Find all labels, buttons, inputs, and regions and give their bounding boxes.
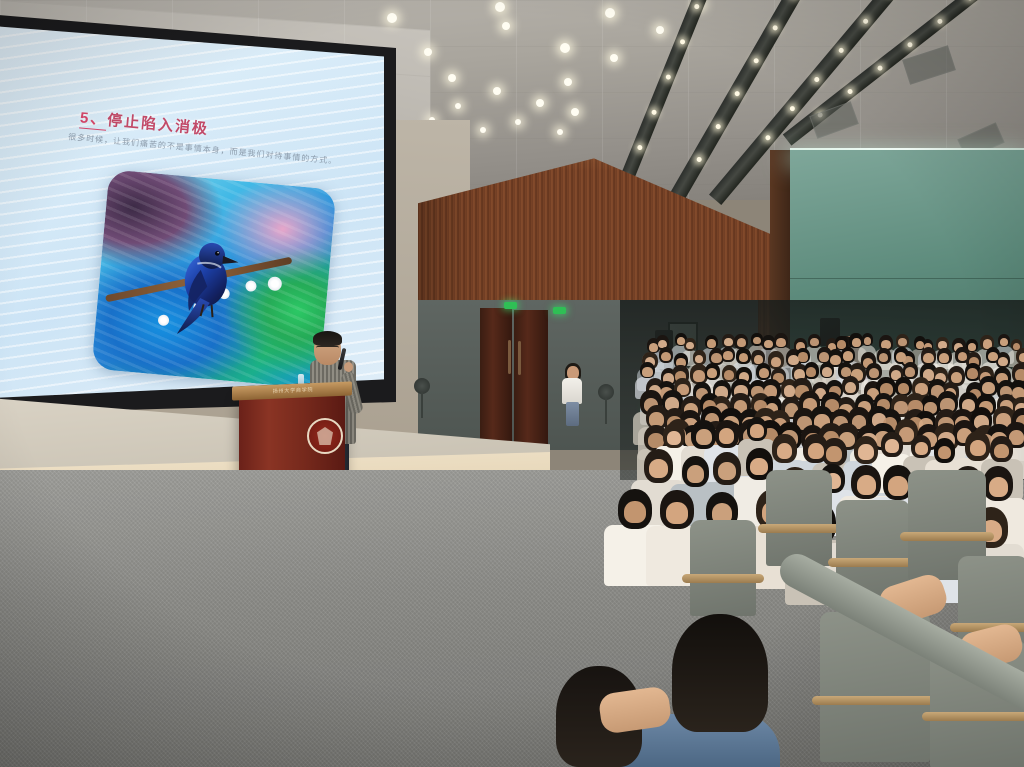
audience-face [661, 352, 671, 362]
audience-face [806, 367, 816, 377]
beam-spotlight-icon [876, 64, 883, 71]
audience-face [998, 357, 1008, 367]
audience-face [776, 338, 785, 347]
audience-face [649, 459, 668, 478]
audience-face [879, 353, 889, 362]
auditorium-photo: 5、停止陷入消极 很多时候，让我们痛苦的不是事情本身，而是我们对待事情的方式。 [0, 0, 1024, 767]
exit-sign-icon [504, 302, 517, 309]
pedestal-fan [598, 384, 614, 424]
beam-spotlight-icon [752, 57, 759, 64]
audience-face [739, 353, 749, 362]
audience-face [852, 338, 861, 347]
audience-face [719, 428, 735, 444]
downlight-icon [571, 108, 579, 116]
slide-title-text: 停止陷入消极 [106, 112, 209, 138]
audience-face [724, 370, 734, 380]
audience-face [808, 443, 824, 459]
audience-face [686, 342, 694, 349]
foreground-attendee-head [672, 614, 768, 732]
audience-face [888, 476, 907, 495]
beam-spotlight-icon [764, 134, 771, 141]
audience-face [822, 367, 832, 377]
downlight-icon [387, 13, 397, 23]
teal-wall-seam [790, 278, 1024, 279]
pedestal-fan [414, 378, 430, 418]
audience-face [898, 338, 907, 346]
beam-spotlight-icon [665, 74, 672, 81]
audience-face [905, 367, 915, 377]
audience-face [869, 368, 880, 378]
beam-spotlight-icon [714, 123, 721, 130]
audience-face [753, 337, 761, 344]
audience-face [810, 338, 819, 346]
audience-face [845, 382, 856, 393]
downlight-icon [605, 8, 615, 18]
beam-spotlight-icon [862, 17, 869, 24]
fan-pole [605, 398, 607, 424]
bird-illustration [161, 233, 254, 344]
audience-face [707, 339, 716, 348]
beam-spotlight-icon [650, 109, 657, 116]
beam-spotlight-icon [936, 17, 943, 24]
audience-face [1015, 369, 1024, 381]
slide-bird-photo [91, 169, 336, 389]
audience-face [771, 357, 782, 367]
downlight-icon [424, 48, 432, 56]
audience-face [798, 352, 808, 361]
downlight-icon [564, 78, 572, 86]
downlight-icon [515, 119, 521, 125]
audience-face [696, 429, 712, 445]
beam-spotlight-icon [966, 0, 973, 1]
seat-armrest [900, 532, 994, 541]
downlight-icon [502, 22, 510, 30]
downlight-icon [536, 99, 544, 107]
audience-face [777, 443, 793, 459]
downlight-icon [448, 74, 456, 82]
university-emblem [307, 418, 343, 454]
audience-face [938, 446, 952, 460]
beam-spotlight-icon [693, 3, 700, 10]
downlight-icon [493, 87, 501, 95]
exit-sign-icon [553, 307, 566, 314]
beam-spotlight-icon [813, 76, 820, 83]
downlight-icon [495, 2, 505, 12]
beam-spotlight-icon [771, 24, 778, 31]
audience-face [885, 439, 899, 453]
audience-face [784, 385, 796, 397]
audience-face [759, 368, 769, 378]
audience-face [718, 462, 736, 480]
speaker-hair [313, 331, 342, 346]
downlight-icon [656, 26, 664, 34]
door-handle[interactable] [518, 341, 521, 375]
audience-face [967, 368, 978, 379]
audience-face [666, 502, 688, 524]
audience-face [864, 337, 872, 344]
audience-face [819, 352, 829, 362]
audience-face [723, 351, 732, 360]
audience-face [898, 383, 909, 394]
attendee-by-wall-legs [566, 402, 579, 426]
audience-face [711, 353, 722, 363]
audience-face [764, 340, 773, 348]
audience-face [642, 367, 652, 377]
door-handle[interactable] [508, 340, 511, 374]
seat-armrest [758, 524, 840, 533]
emblem-inner-mark [317, 427, 333, 445]
speaker-hand [344, 362, 353, 372]
audience-face [750, 458, 767, 475]
audience-face [994, 444, 1008, 458]
audience-face [1000, 338, 1008, 346]
wood-door-right [514, 310, 548, 450]
auditorium-seat[interactable] [690, 520, 756, 616]
audience-face [915, 442, 928, 455]
audience-face [923, 353, 934, 363]
beam-spotlight-icon [733, 90, 740, 97]
audience-face [750, 424, 763, 437]
attendee-by-wall-torso [562, 378, 582, 404]
audience-face [826, 446, 842, 462]
audience-face [667, 431, 681, 445]
audience-face [982, 382, 995, 394]
audience-face [1019, 353, 1024, 362]
downlight-icon [557, 129, 563, 135]
audience-face [939, 353, 949, 363]
beam-spotlight-icon [906, 41, 913, 48]
audience-face [724, 338, 733, 346]
audience-face [737, 338, 746, 347]
auditorium-seat[interactable] [766, 470, 832, 566]
beam-spotlight-icon [788, 105, 795, 112]
audience-face [624, 501, 646, 523]
beam-spotlight-icon [695, 156, 702, 163]
downlight-icon [480, 127, 486, 133]
beam-spotlight-icon [679, 38, 686, 45]
audience-face [677, 337, 685, 345]
audience-face [707, 368, 717, 378]
downlight-icon [455, 103, 461, 109]
seat-armrest [812, 696, 938, 705]
seat-armrest [828, 558, 918, 567]
audience-face [857, 475, 876, 494]
audience-face [989, 477, 1008, 496]
downlight-icon [560, 43, 570, 53]
audience-face [858, 444, 874, 460]
audience-face [693, 370, 705, 382]
beam-spotlight-icon [837, 47, 844, 54]
slide-title-number: 5、 [79, 109, 108, 130]
audience-face [970, 440, 986, 456]
audience-face [968, 343, 976, 351]
beam-spotlight-icon [846, 88, 853, 95]
audience-face [687, 465, 704, 482]
wood-door-left [480, 308, 512, 448]
audience-face [649, 343, 658, 352]
audience-face [988, 352, 998, 361]
beam-spotlight-icon [636, 144, 643, 151]
downlight-icon [610, 54, 618, 62]
audience-face [843, 351, 853, 361]
fan-pole [421, 392, 423, 418]
seat-armrest [682, 574, 764, 583]
glasses-icon [316, 346, 339, 352]
seat-armrest [922, 712, 1024, 721]
